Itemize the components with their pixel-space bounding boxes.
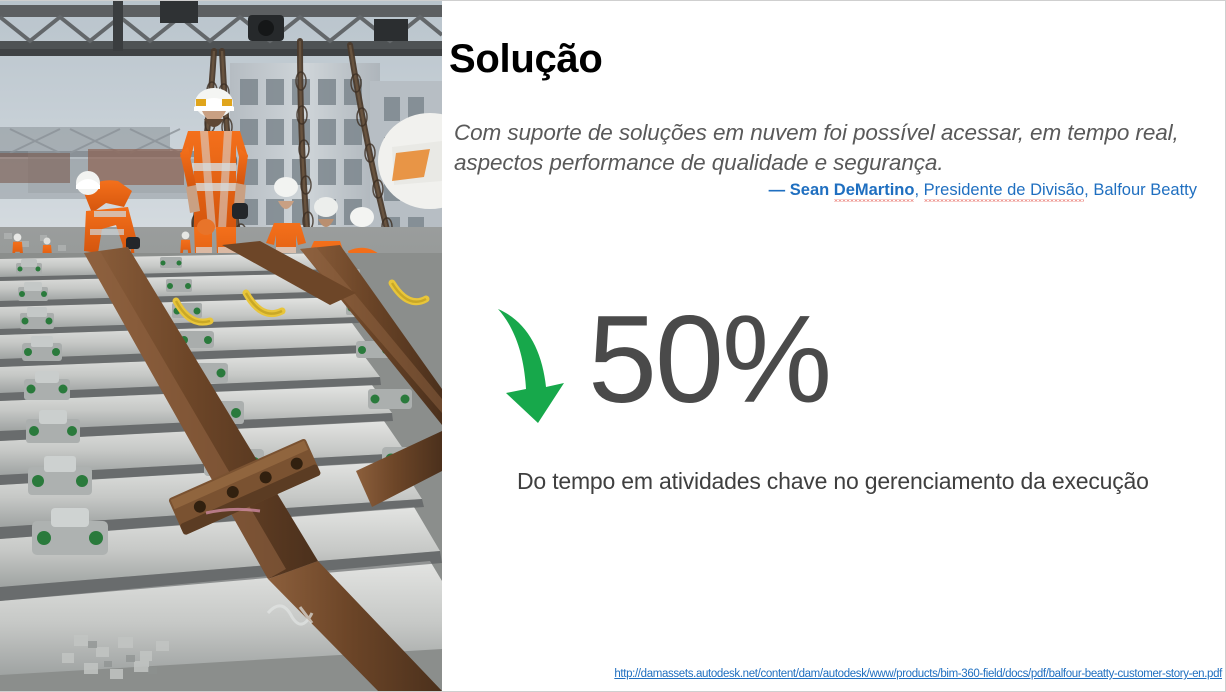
quote-text: Com suporte de soluções em nuvem foi pos…	[454, 118, 1209, 178]
attribution-person-first: Sean	[790, 181, 834, 199]
slide: Solução Com suporte de soluções em nuvem…	[0, 0, 1226, 692]
stat-block: 50%	[492, 301, 830, 426]
stat-value: 50%	[588, 301, 830, 420]
quote-attribution: — Sean DeMartino, Presidente de Divisão,…	[454, 181, 1197, 200]
source-url-link[interactable]: http://damassets.autodesk.net/content/da…	[442, 668, 1225, 680]
attribution-separator-1: ,	[914, 181, 919, 199]
attribution-separator-2: ,	[1084, 181, 1089, 199]
attribution-person-last: DeMartino	[834, 181, 915, 202]
attribution-dash: —	[769, 181, 786, 199]
attribution-role-part2: Divisão	[1030, 181, 1084, 202]
page-title: Solução	[449, 39, 603, 79]
stat-caption: Do tempo em atividades chave no gerencia…	[517, 466, 1177, 498]
content-panel: Solução Com suporte de soluções em nuvem…	[442, 1, 1226, 692]
railway-construction-photo	[0, 1, 442, 692]
attribution-role-part1: Presidente de	[924, 181, 1030, 202]
attribution-company: Balfour Beatty	[1093, 181, 1197, 199]
photo-illustration	[0, 1, 442, 692]
arrow-down-curved-icon	[492, 301, 584, 426]
